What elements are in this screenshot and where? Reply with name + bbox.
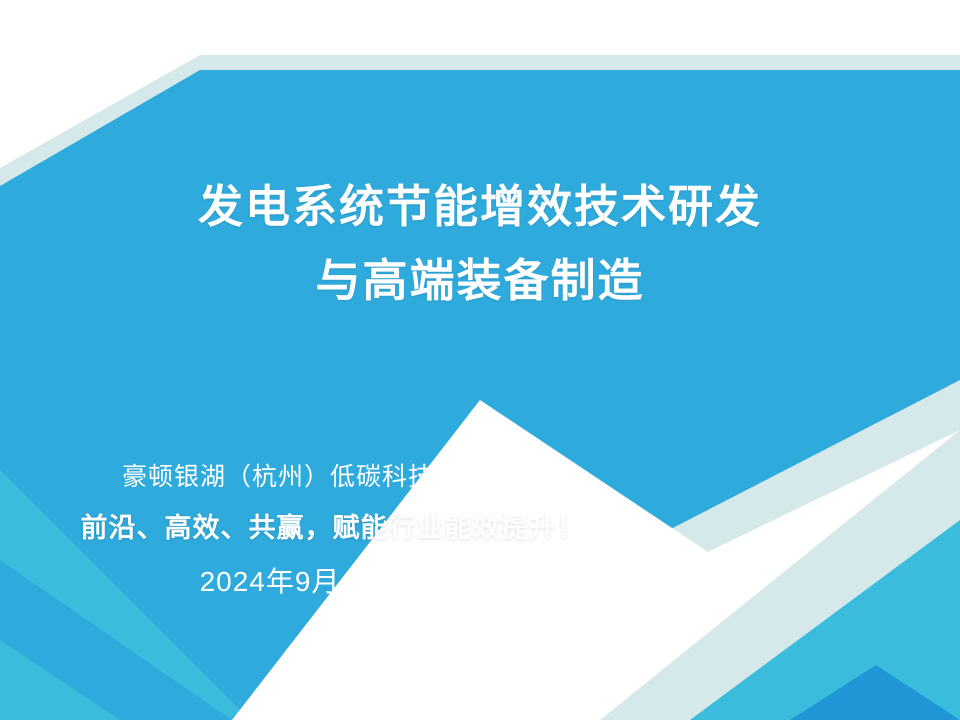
title-line-2: 与高端装备制造 (0, 244, 960, 318)
company-name: 豪顿银湖（杭州）低碳科技有限公司 (0, 460, 660, 494)
slide-title: 发电系统节能增效技术研发 与高端装备制造 (0, 170, 960, 318)
slogan-text: 前沿、高效、共赢，赋能行业能效提升！ (0, 509, 665, 547)
slide-date: 2024年9月 (0, 564, 540, 600)
slide-text-layer: 发电系统节能增效技术研发 与高端装备制造 豪顿银湖（杭州）低碳科技有限公司 前沿… (0, 0, 960, 720)
presentation-slide: 发电系统节能增效技术研发 与高端装备制造 豪顿银湖（杭州）低碳科技有限公司 前沿… (0, 0, 960, 720)
title-line-1: 发电系统节能增效技术研发 (0, 170, 960, 244)
